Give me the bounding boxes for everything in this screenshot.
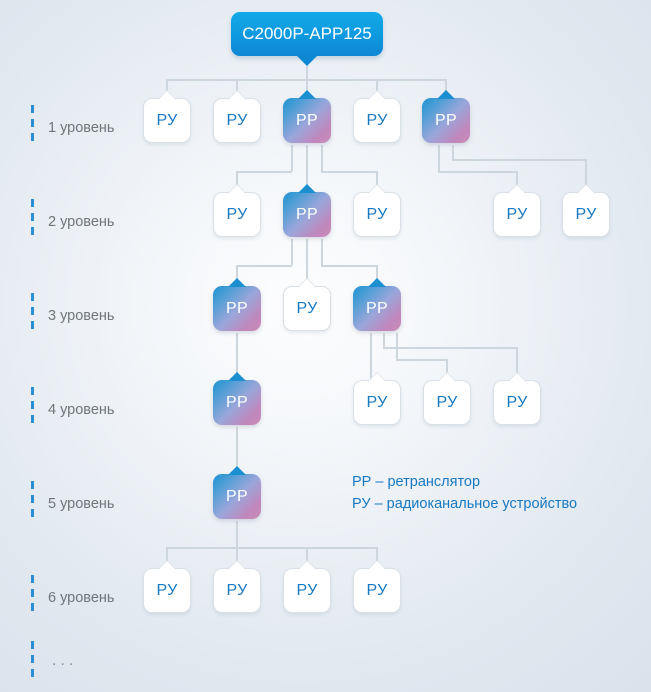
node-pointer-icon [368, 185, 386, 194]
node-label: РУ [366, 112, 387, 130]
node-level2-5[interactable]: РУ [562, 192, 610, 237]
node-pointer-icon [298, 184, 316, 193]
level-dash [31, 105, 34, 113]
connector-level6-bus [167, 547, 377, 549]
node-pointer-icon [228, 185, 246, 194]
node-level3-3[interactable]: РР [353, 286, 401, 331]
node-pointer-icon [228, 91, 246, 100]
connector-l4-s3 [396, 333, 398, 359]
connector-l2-s1 [291, 145, 293, 171]
level-dash [31, 589, 34, 597]
node-label: РУ [156, 582, 177, 600]
node-label: РУ [506, 206, 527, 224]
level-dash [31, 509, 34, 517]
level-label-3: 3 уровень [48, 308, 114, 324]
node-label: РУ [226, 206, 247, 224]
connector-l4-h2 [383, 347, 517, 349]
legend-line-repeater: РР – ретранслятор [352, 471, 577, 493]
connector-r-h2 [452, 159, 586, 161]
node-level2-1[interactable]: РУ [213, 192, 261, 237]
level-dash [31, 199, 34, 207]
connector-r-s1 [438, 145, 440, 171]
node-label: РУ [366, 206, 387, 224]
node-pointer-icon [158, 561, 176, 570]
level-label-2: 2 уровень [48, 214, 114, 230]
node-level1-5[interactable]: РР [422, 98, 470, 143]
diagram-canvas: C2000P-APP125 1 уровень 2 уровень 3 уров… [0, 0, 651, 692]
node-label: РР [435, 112, 457, 130]
level-dash [31, 307, 34, 315]
node-pointer-icon [368, 561, 386, 570]
node-pointer-icon [228, 278, 246, 287]
node-pointer-icon [158, 91, 176, 100]
connector-l3-h1 [236, 265, 292, 267]
node-level2-4[interactable]: РУ [493, 192, 541, 237]
node-level2-2[interactable]: РР [283, 192, 331, 237]
node-label: РУ [156, 112, 177, 130]
connector-l2-s3 [321, 145, 323, 171]
node-pointer-icon [508, 185, 526, 194]
node-label: РР [296, 206, 318, 224]
node-label: РУ [575, 206, 596, 224]
level-dash [31, 603, 34, 611]
level-dash [31, 321, 34, 329]
connector-r-s2 [452, 145, 454, 159]
legend-line-device: РУ – радиоканальное устройство [352, 493, 577, 515]
node-label: РР [226, 394, 248, 412]
level-label-1: 1 уровень [48, 120, 114, 136]
node-label: РУ [226, 112, 247, 130]
node-level6-4[interactable]: РУ [353, 568, 401, 613]
node-pointer-icon [438, 373, 456, 382]
node-pointer-icon [298, 561, 316, 570]
node-label: РУ [366, 394, 387, 412]
level-label-6: 6 уровень [48, 590, 114, 606]
legend: РР – ретранслятор РУ – радиоканальное ус… [352, 471, 577, 515]
ellipsis-label: ... [52, 652, 77, 670]
level-dash [31, 401, 34, 409]
connector-l3-s1 [291, 239, 293, 265]
root-node[interactable]: C2000P-APP125 [231, 12, 383, 56]
level-dash [31, 481, 34, 489]
node-level6-1[interactable]: РУ [143, 568, 191, 613]
node-level4-4[interactable]: РУ [493, 380, 541, 425]
level-dash [31, 227, 34, 235]
connector-l3-s3 [321, 239, 323, 265]
node-level6-2[interactable]: РУ [213, 568, 261, 613]
node-pointer-icon [228, 466, 246, 475]
level-dash [31, 575, 34, 583]
node-level1-1[interactable]: РУ [143, 98, 191, 143]
level-dash [31, 133, 34, 141]
node-level4-3[interactable]: РУ [423, 380, 471, 425]
node-level3-1[interactable]: РР [213, 286, 261, 331]
node-label: РУ [226, 582, 247, 600]
node-level2-3[interactable]: РУ [353, 192, 401, 237]
node-label: РР [366, 300, 388, 318]
node-label: РУ [296, 300, 317, 318]
node-pointer-icon [298, 90, 316, 99]
connector-r-h1 [438, 171, 516, 173]
level-dash [31, 387, 34, 395]
level-dash [31, 119, 34, 127]
level-dash [31, 655, 34, 663]
connector-l4-s2 [383, 333, 385, 347]
node-level1-4[interactable]: РУ [353, 98, 401, 143]
node-label: РУ [296, 582, 317, 600]
level-dash [31, 495, 34, 503]
level-dash [31, 641, 34, 649]
node-pointer-icon [228, 372, 246, 381]
node-pointer-icon [298, 279, 316, 288]
node-level1-3[interactable]: РР [283, 98, 331, 143]
node-pointer-icon [437, 90, 455, 99]
node-level1-2[interactable]: РУ [213, 98, 261, 143]
connector-l2-h2 [321, 171, 377, 173]
node-pointer-icon [368, 373, 386, 382]
connector-l4-h3 [396, 359, 447, 361]
node-level4-1[interactable]: РР [213, 380, 261, 425]
level-label-5: 5 уровень [48, 496, 114, 512]
root-pointer-icon [296, 55, 318, 66]
node-label: РУ [366, 582, 387, 600]
node-label: РР [296, 112, 318, 130]
root-node-label: C2000P-APP125 [242, 24, 371, 44]
node-label: РУ [436, 394, 457, 412]
node-pointer-icon [228, 561, 246, 570]
node-level4-2[interactable]: РУ [353, 380, 401, 425]
level-dash [31, 669, 34, 677]
node-pointer-icon [368, 278, 386, 287]
node-pointer-icon [577, 185, 595, 194]
node-label: РР [226, 488, 248, 506]
node-level6-3[interactable]: РУ [283, 568, 331, 613]
level-dash [31, 213, 34, 221]
node-label: РУ [506, 394, 527, 412]
node-level5-1[interactable]: РР [213, 474, 261, 519]
node-level3-2[interactable]: РУ [283, 286, 331, 331]
node-pointer-icon [368, 91, 386, 100]
connector-root-stem [306, 66, 308, 80]
connector-l2-h1 [236, 171, 292, 173]
connector-l6-stem [236, 521, 238, 547]
level-dash [31, 415, 34, 423]
level-label-4: 4 уровень [48, 402, 114, 418]
node-pointer-icon [508, 373, 526, 382]
level-dash [31, 293, 34, 301]
node-label: РР [226, 300, 248, 318]
connector-l3-h2 [321, 265, 377, 267]
